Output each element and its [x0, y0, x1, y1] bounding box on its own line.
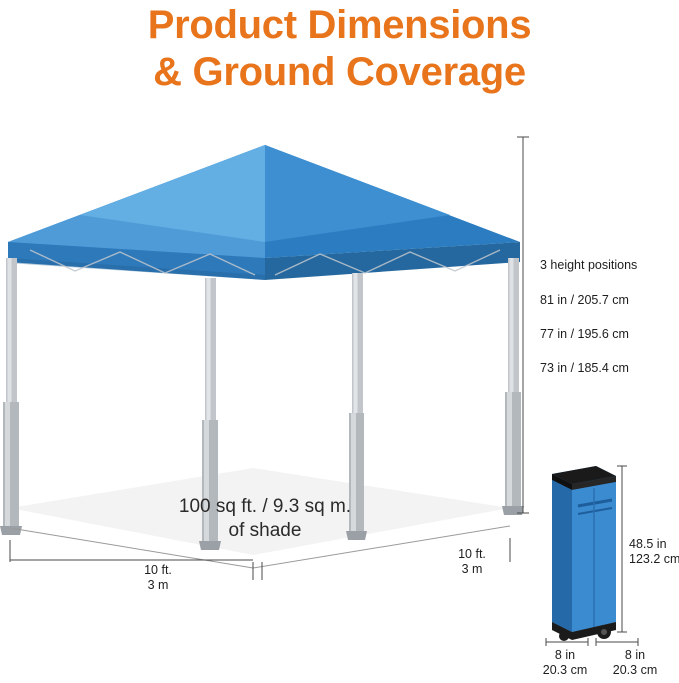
side-width-dimension: 10 ft. 3 m: [432, 547, 512, 577]
bag-side-width-dimension: 8 in 20.3 cm: [600, 648, 670, 678]
height-positions: 3 height positions 81 in / 205.7 cm 77 i…: [540, 258, 637, 395]
shade-area-label: 100 sq ft. / 9.3 sq m. of shade: [140, 495, 390, 543]
title-line-1: Product Dimensions: [148, 3, 532, 47]
leg-left-front: [0, 258, 22, 535]
shade-area-line-2: of shade: [140, 519, 390, 543]
shade-area-line-1: 100 sq ft. / 9.3 sq m.: [140, 495, 390, 519]
diagram-root: Product Dimensions & Ground Coverage: [0, 0, 679, 683]
height-option-2: 77 in / 195.6 cm: [540, 327, 637, 342]
bag-height-dimension: 48.5 in 123.2 cm: [629, 537, 679, 567]
height-option-3: 73 in / 185.4 cm: [540, 361, 637, 376]
page-title: Product Dimensions & Ground Coverage: [0, 2, 679, 96]
title-line-2: & Ground Coverage: [0, 49, 679, 96]
height-positions-label: 3 height positions: [540, 258, 637, 273]
height-option-1: 81 in / 205.7 cm: [540, 293, 637, 308]
front-width-dimension: 10 ft. 3 m: [118, 563, 198, 593]
bag-front-width-dimension: 8 in 20.3 cm: [530, 648, 600, 678]
